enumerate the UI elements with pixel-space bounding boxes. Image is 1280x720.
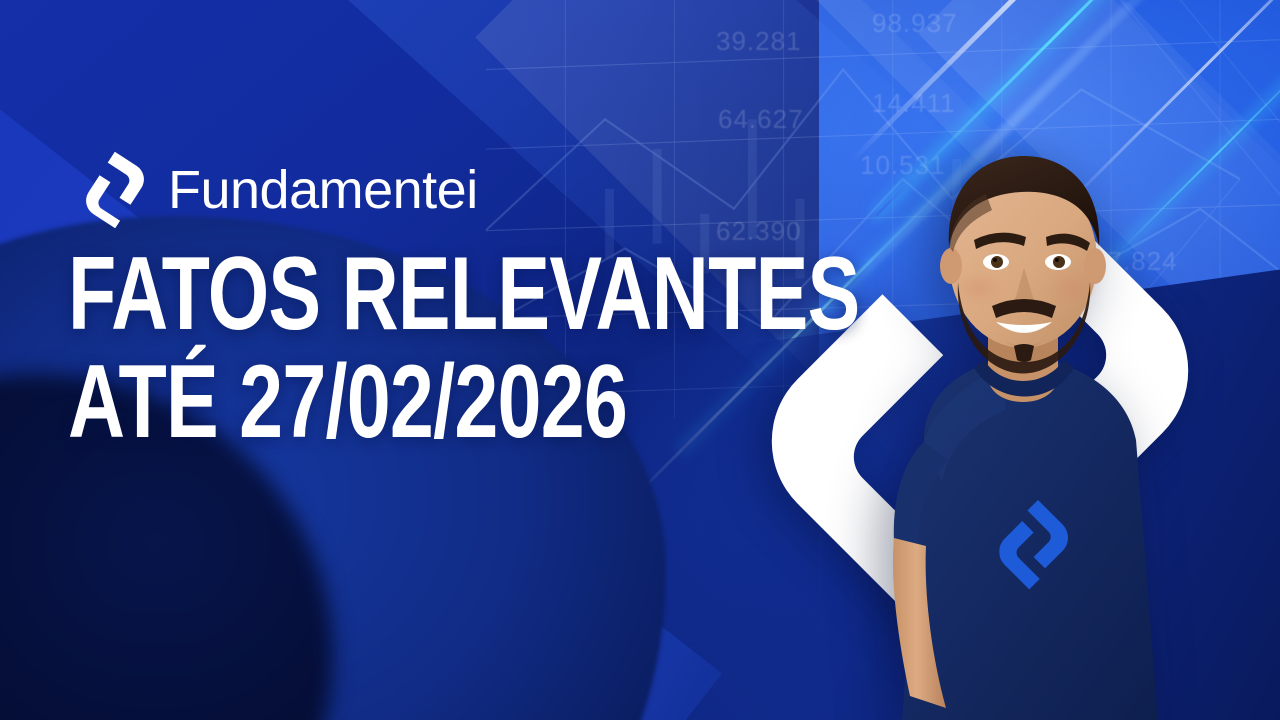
background-number: 27.824 bbox=[1092, 246, 1178, 277]
background-number: 98.937 bbox=[872, 8, 958, 39]
headline-line-2: ATÉ 27/02/2026 bbox=[68, 354, 646, 452]
headline-line-1: FATOS RELEVANTES bbox=[68, 246, 646, 344]
background-number: 39.281 bbox=[716, 26, 802, 57]
background-number: 10.531 bbox=[860, 150, 946, 181]
brand-lockup: Fundamentei bbox=[84, 148, 478, 232]
headline-block: FATOS RELEVANTES ATÉ 27/02/2026 bbox=[68, 246, 828, 452]
brand-wordmark: Fundamentei bbox=[168, 163, 478, 217]
thumbnail-canvas: 39.281 98.937 14.411 64.627 10.531 62.39… bbox=[0, 0, 1280, 720]
background-number: 64.627 bbox=[718, 104, 804, 135]
fundamentei-logo-icon bbox=[84, 148, 146, 232]
background-number: 14.411 bbox=[872, 88, 956, 119]
